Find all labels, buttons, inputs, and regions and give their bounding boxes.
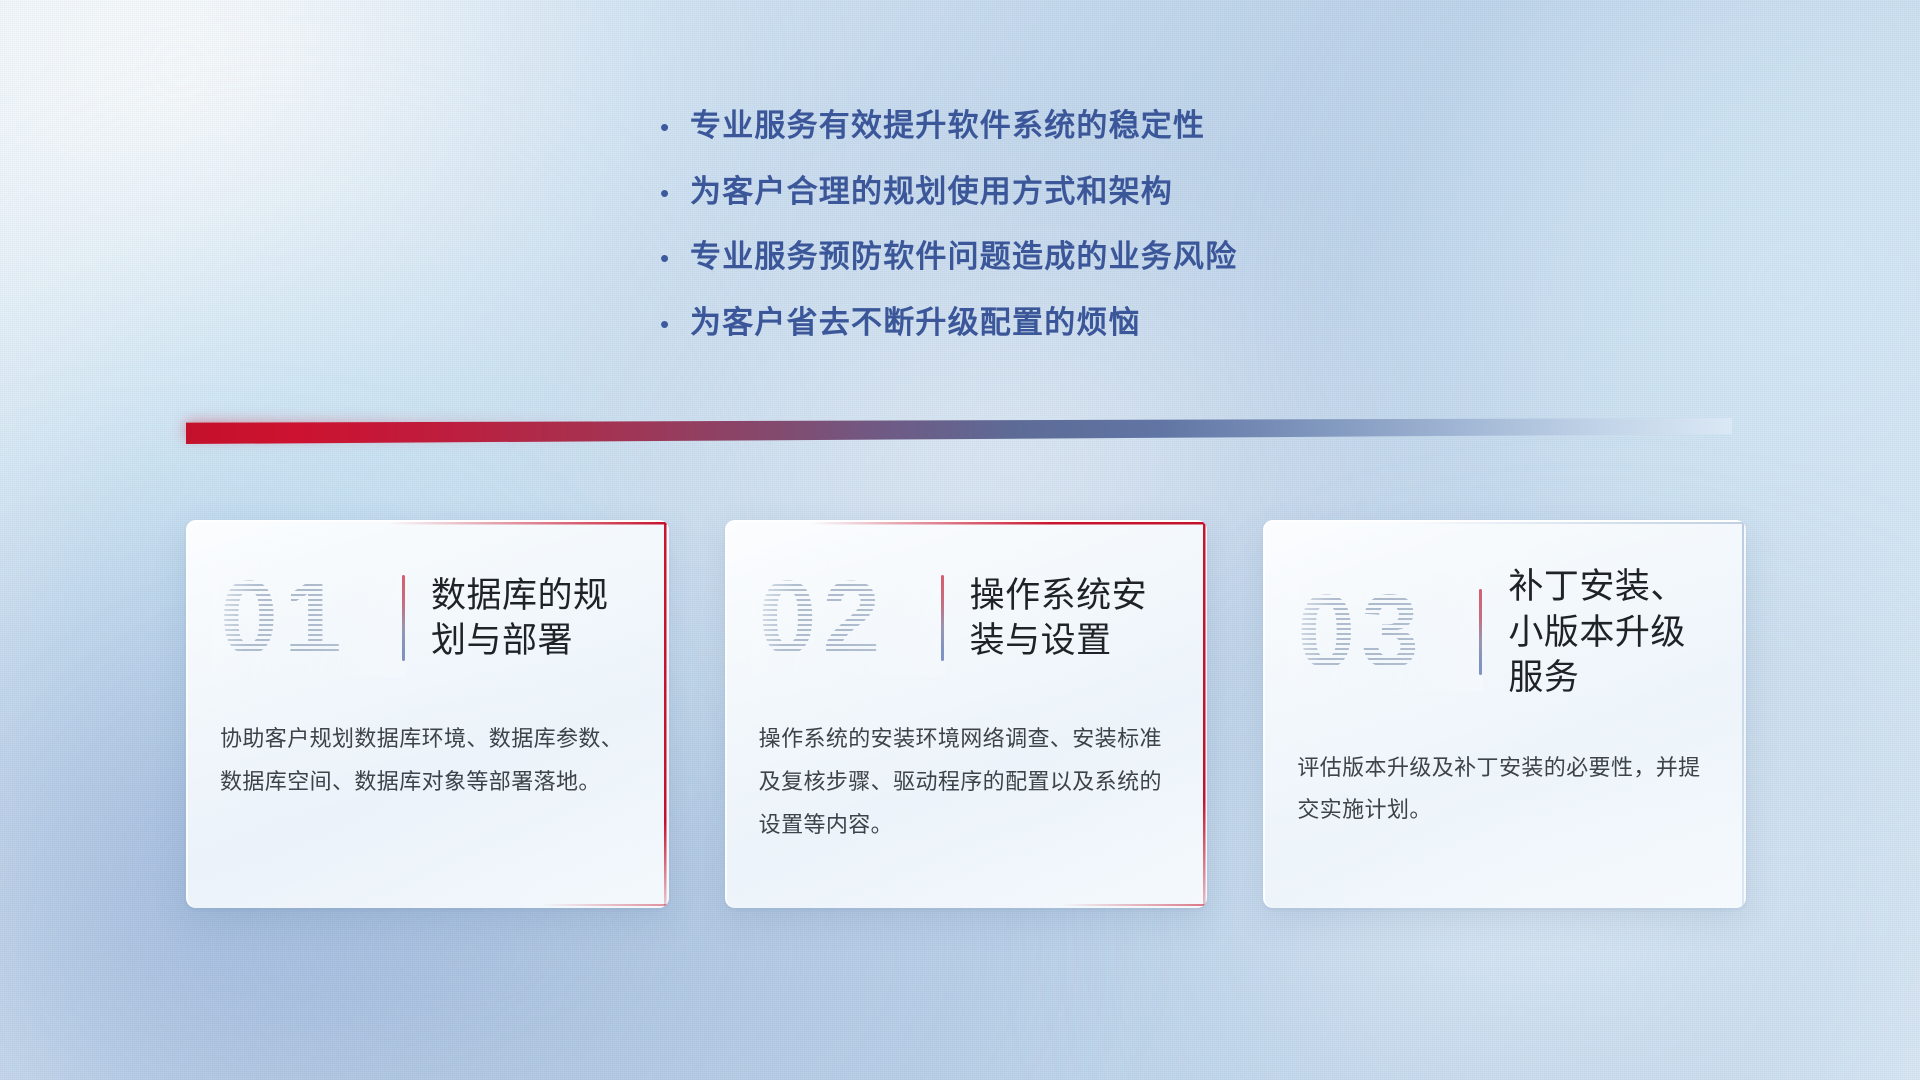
service-card-03[interactable]: 03 补丁安装、小版本升级服务 评估版本升级及补丁安装的必要性，并提交实施计划。 (1263, 520, 1746, 908)
bullet-marker-icon: • (660, 180, 690, 206)
bullet-marker-icon: • (660, 245, 690, 271)
bullet-item-label: 专业服务预防软件问题造成的业务风险 (690, 239, 1237, 275)
card-number-01: 01 (220, 565, 398, 671)
card-title-divider-rule (402, 575, 405, 661)
bullet-marker-icon: • (660, 311, 690, 337)
card-header: 02 操作系统安装与设置 (759, 564, 1174, 672)
service-card-02[interactable]: 02 操作系统安装与设置 操作系统的安装环境网络调查、安装标准及复核步骤、驱动程… (725, 520, 1208, 908)
card-number-03: 03 (1297, 579, 1475, 685)
benefits-bullet-list: • 专业服务有效提升软件系统的稳定性 • 为客户合理的规划使用方式和架构 • 专… (660, 108, 1420, 341)
bullet-item: • 为客户省去不断升级配置的烦恼 (660, 305, 1420, 341)
card-title-divider-rule (941, 575, 944, 661)
service-cards-row: 01 数据库的规划与部署 协助客户规划数据库环境、数据库参数、数据库空间、数据库… (186, 520, 1746, 908)
bullet-item: • 为客户合理的规划使用方式和架构 (660, 174, 1420, 210)
card-header: 01 数据库的规划与部署 (220, 564, 635, 672)
card-body-text: 操作系统的安装环境网络调查、安装标准及复核步骤、驱动程序的配置以及系统的设置等内… (759, 718, 1174, 847)
card-header: 03 补丁安装、小版本升级服务 (1297, 564, 1712, 701)
bullet-item-label: 为客户合理的规划使用方式和架构 (690, 174, 1173, 210)
bullet-item-label: 专业服务有效提升软件系统的稳定性 (690, 108, 1205, 144)
card-body-text: 协助客户规划数据库环境、数据库参数、数据库空间、数据库对象等部署落地。 (220, 718, 635, 804)
card-title-divider-rule (1479, 589, 1482, 675)
bullet-item-label: 为客户省去不断升级配置的烦恼 (690, 305, 1141, 341)
bullet-item: • 专业服务预防软件问题造成的业务风险 (660, 239, 1420, 275)
card-title: 数据库的规划与部署 (431, 573, 635, 664)
service-card-01[interactable]: 01 数据库的规划与部署 协助客户规划数据库环境、数据库参数、数据库空间、数据库… (186, 520, 669, 908)
card-number-02: 02 (759, 565, 937, 671)
card-body-text: 评估版本升级及补丁安装的必要性，并提交实施计划。 (1297, 747, 1712, 833)
bullet-item: • 专业服务有效提升软件系统的稳定性 (660, 108, 1420, 144)
section-divider (186, 418, 1732, 444)
bullet-marker-icon: • (660, 114, 690, 140)
card-title: 操作系统安装与设置 (970, 573, 1174, 664)
card-title: 补丁安装、小版本升级服务 (1508, 564, 1712, 701)
